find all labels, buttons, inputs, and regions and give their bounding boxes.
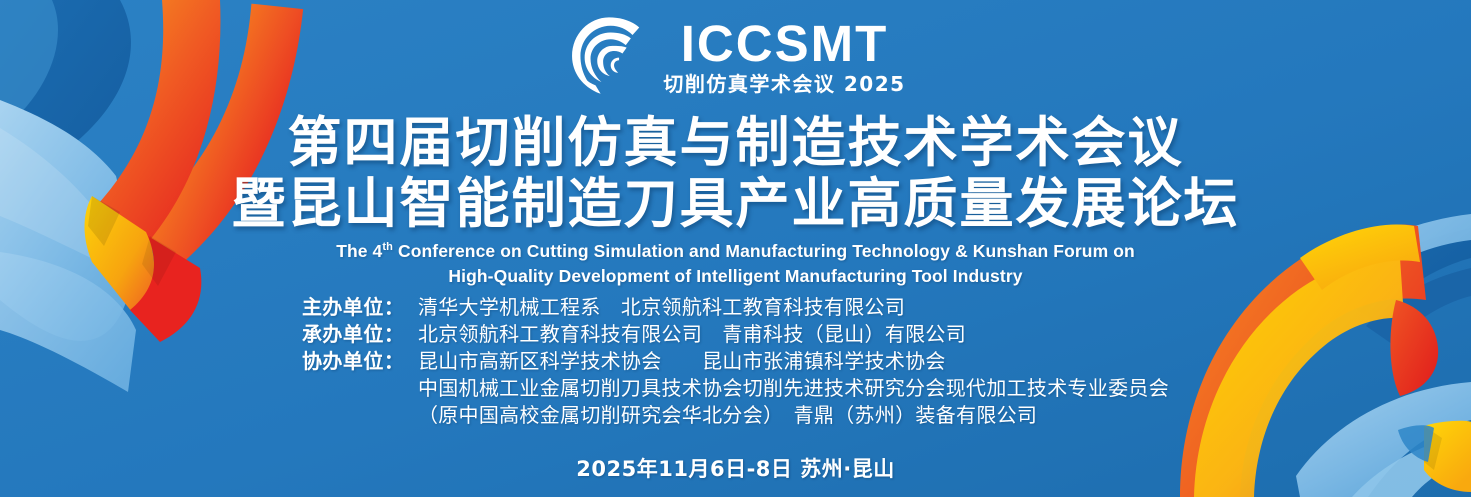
main-title-chinese: 第四届切削仿真与制造技术学术会议 暨昆山智能制造刀具产业高质量发展论坛 [0, 112, 1471, 234]
subtitle-line-2: High-Quality Development of Intelligent … [0, 264, 1471, 289]
organizer-row: 协办单位： 昆山市高新区科学技术协会 昆山市张浦镇科学技术协会 [302, 348, 1169, 375]
organizer-row-continued: （原中国高校金属切削研究会华北分会） 青鼎（苏州）装备有限公司 [302, 402, 1169, 429]
organizer-label: 承办单位： [302, 321, 418, 348]
organizer-label: 主办单位： [302, 294, 418, 321]
organizer-value: （原中国高校金属切削研究会华北分会） 青鼎（苏州）装备有限公司 [418, 402, 1037, 429]
subtitle-line-1: The 4th Conference on Cutting Simulation… [0, 239, 1471, 264]
organizer-value: 昆山市高新区科学技术协会 昆山市张浦镇科学技术协会 [418, 348, 946, 375]
organizer-row: 承办单位： 北京领航科工教育科技有限公司 青甫科技（昆山）有限公司 [302, 321, 1169, 348]
conference-logo: ICCSMT 切削仿真学术会议 2025 [0, 14, 1471, 98]
main-title-line-2: 暨昆山智能制造刀具产业高质量发展论坛 [0, 173, 1471, 234]
conference-banner: ICCSMT 切削仿真学术会议 2025 第四届切削仿真与制造技术学术会议 暨昆… [0, 0, 1471, 497]
organizer-value: 北京领航科工教育科技有限公司 青甫科技（昆山）有限公司 [418, 321, 966, 348]
organizer-value: 中国机械工业金属切削刀具技术协会切削先进技术研究分会现代加工技术专业委员会 [418, 375, 1169, 402]
logo-title: ICCSMT [681, 18, 888, 69]
ordinal-suffix: th [382, 241, 393, 253]
organizer-label: 协办单位： [302, 348, 418, 375]
organizer-row: 主办单位： 清华大学机械工程系 北京领航科工教育科技有限公司 [302, 294, 1169, 321]
iccsmt-swirl-c-emblem-icon [565, 14, 653, 98]
organizer-row-continued: 中国机械工业金属切削刀具技术协会切削先进技术研究分会现代加工技术专业委员会 [302, 375, 1169, 402]
subtitle-english: The 4th Conference on Cutting Simulation… [0, 239, 1471, 289]
main-title-line-1: 第四届切削仿真与制造技术学术会议 [0, 112, 1471, 173]
logo-subtitle: 切削仿真学术会议 2025 [663, 74, 905, 94]
organizer-value: 清华大学机械工程系 北京领航科工教育科技有限公司 [418, 294, 905, 321]
subtitle-line-1-pre: The 4 [336, 241, 382, 261]
organizers-block: 主办单位： 清华大学机械工程系 北京领航科工教育科技有限公司 承办单位： 北京领… [0, 294, 1471, 429]
subtitle-line-1-post: Conference on Cutting Simulation and Man… [393, 241, 1135, 261]
date-and-location: 2025年11月6日-8日 苏州·昆山 [0, 453, 1471, 483]
